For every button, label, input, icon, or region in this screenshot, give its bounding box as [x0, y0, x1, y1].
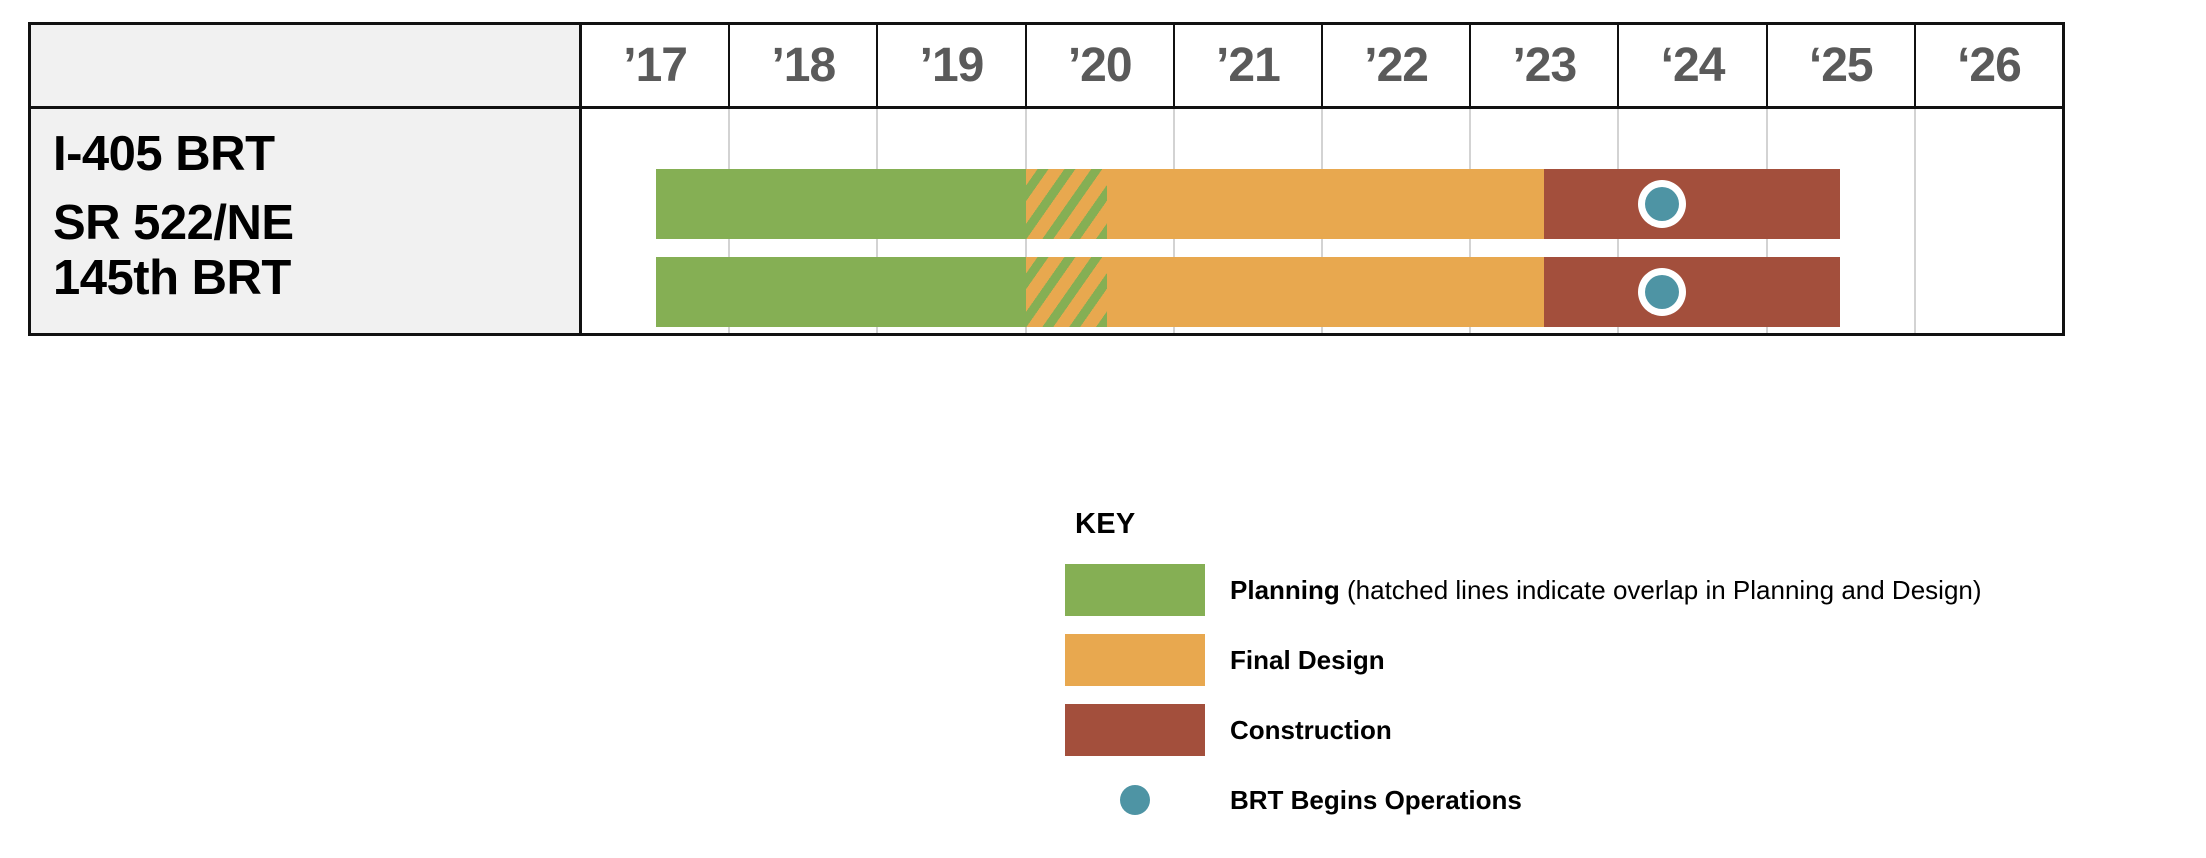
legend-label-strong: BRT Begins Operations [1230, 785, 1522, 815]
legend-label-note: (hatched lines indicate overlap in Plann… [1340, 575, 1982, 605]
project-name-1: SR 522/NE 145th BRT [53, 196, 579, 306]
legend-label-strong: Construction [1230, 715, 1392, 745]
year-label: ’23 [1512, 42, 1576, 90]
year-header-2025: ‘25 [1768, 25, 1916, 106]
legend-swatch [1065, 564, 1205, 616]
phase-segment-construction [1544, 169, 1840, 239]
header-corner-cell [31, 25, 582, 106]
legend-label-strong: Final Design [1230, 645, 1385, 675]
legend-title: KEY [1075, 508, 1982, 541]
phase-segment-planning [656, 257, 1026, 327]
year-label: ’19 [920, 42, 984, 90]
project-timeline-table: ’17’18’19’20’21’22’23‘24‘25‘26 I-405 BRT… [28, 22, 2065, 336]
year-header-2026: ‘26 [1916, 25, 2062, 106]
gantt-plot-area [582, 109, 2062, 333]
phase-segment-planning-design-overlap [1026, 169, 1107, 239]
legend-label-strong: Planning [1230, 575, 1340, 605]
year-label: ’18 [771, 42, 835, 90]
legend-swatch [1065, 634, 1205, 686]
project-label-cell: I-405 BRTSR 522/NE 145th BRT [31, 109, 582, 333]
legend-dot-wrap [1065, 774, 1205, 826]
legend-item-planning: Planning (hatched lines indicate overlap… [1065, 555, 1982, 625]
phase-segment-final-design [1107, 257, 1544, 327]
year-label: ‘24 [1661, 42, 1725, 90]
legend-swatch [1065, 704, 1205, 756]
year-header-cells: ’17’18’19’20’21’22’23‘24‘25‘26 [582, 25, 2062, 106]
table-body-row: I-405 BRTSR 522/NE 145th BRT [31, 109, 2062, 333]
timeline-chart-page: ’17’18’19’20’21’22’23‘24‘25‘26 I-405 BRT… [0, 0, 2206, 858]
year-header-2022: ’22 [1323, 25, 1471, 106]
project-name-0: I-405 BRT [53, 127, 579, 182]
legend-item-final-design: Final Design [1065, 625, 1982, 695]
year-header-2020: ’20 [1027, 25, 1175, 106]
legend-dot-icon [1120, 785, 1150, 815]
bar-track-1 [582, 257, 2062, 327]
year-header-2018: ’18 [730, 25, 878, 106]
legend-item-construction: Construction [1065, 695, 1982, 765]
legend-items: Planning (hatched lines indicate overlap… [1065, 555, 1982, 835]
year-label: ’21 [1216, 42, 1280, 90]
year-label: ‘26 [1957, 42, 2021, 90]
legend-label: Planning (hatched lines indicate overlap… [1230, 575, 1982, 606]
year-label: ’22 [1364, 42, 1428, 90]
phase-segment-construction [1544, 257, 1840, 327]
year-label: ‘25 [1809, 42, 1873, 90]
bar-track-0 [582, 169, 2062, 239]
year-header-2019: ’19 [878, 25, 1026, 106]
legend: KEY Planning (hatched lines indicate ove… [1065, 508, 1982, 835]
gantt-bars [582, 109, 2062, 333]
legend-label: Final Design [1230, 645, 1385, 676]
legend-item-brt-begins-operations: BRT Begins Operations [1065, 765, 1982, 835]
phase-segment-planning [656, 169, 1026, 239]
year-header-2023: ’23 [1471, 25, 1619, 106]
year-label: ’17 [623, 42, 687, 90]
year-header-2021: ’21 [1175, 25, 1323, 106]
year-header-2024: ‘24 [1619, 25, 1767, 106]
phase-segment-planning-design-overlap [1026, 257, 1107, 327]
year-header-2017: ’17 [582, 25, 730, 106]
legend-label: Construction [1230, 715, 1392, 746]
table-header-row: ’17’18’19’20’21’22’23‘24‘25‘26 [31, 25, 2062, 109]
phase-segment-final-design [1107, 169, 1544, 239]
year-label: ’20 [1068, 42, 1132, 90]
legend-label: BRT Begins Operations [1230, 785, 1522, 816]
